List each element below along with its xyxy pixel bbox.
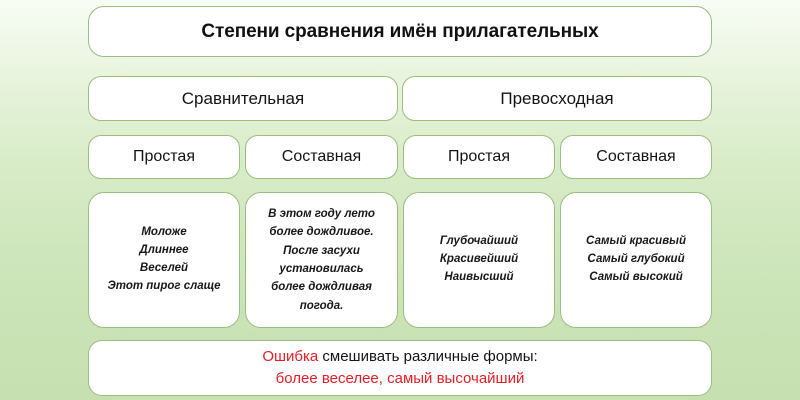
example-box-superlative-simple: Глубочайший Красивейший Наивысший	[403, 192, 555, 328]
example-text-comparative-compound: В этом году лето более дождливое. После …	[268, 205, 375, 315]
example-box-comparative-compound: В этом году лето более дождливое. После …	[245, 192, 398, 328]
form-label-comparative-simple: Простая	[133, 148, 195, 166]
warning-error-word: Ошибка	[262, 348, 318, 365]
title-box: Степени сравнения имён прилагательных	[88, 6, 712, 57]
degree-box-superlative: Превосходная	[402, 76, 712, 121]
form-box-comparative-compound: Составная	[245, 135, 398, 179]
warning-line-first: Ошибка смешивать различные формы:	[262, 346, 537, 368]
page-title: Степени сравнения имён прилагательных	[201, 21, 598, 43]
example-box-comparative-simple: Моложе Длиннее Веселей Этот пирог слаще	[88, 192, 240, 328]
degree-box-comparative: Сравнительная	[88, 76, 398, 121]
slide-canvas: Степени сравнения имён прилагательных Ср…	[0, 0, 800, 400]
form-label-comparative-compound: Составная	[282, 148, 361, 166]
form-box-comparative-simple: Простая	[88, 135, 240, 179]
example-box-superlative-compound: Самый красивый Самый глубокий Самый высо…	[560, 192, 712, 328]
degree-label-superlative: Превосходная	[500, 89, 613, 109]
form-box-superlative-compound: Составная	[560, 135, 712, 179]
example-text-comparative-simple: Моложе Длиннее Веселей Этот пирог слаще	[107, 224, 220, 295]
example-text-superlative-compound: Самый красивый Самый глубокий Самый высо…	[586, 233, 686, 286]
form-label-superlative-simple: Простая	[448, 148, 510, 166]
degree-label-comparative: Сравнительная	[182, 89, 304, 109]
example-text-superlative-simple: Глубочайший Красивейший Наивысший	[440, 233, 518, 286]
warning-line-second: более веселее, самый высочайший	[276, 368, 525, 390]
form-label-superlative-compound: Составная	[596, 148, 675, 166]
warning-rest-text: смешивать различные формы:	[318, 348, 537, 365]
warning-box: Ошибка смешивать различные формы: более …	[88, 340, 712, 396]
form-box-superlative-simple: Простая	[403, 135, 555, 179]
